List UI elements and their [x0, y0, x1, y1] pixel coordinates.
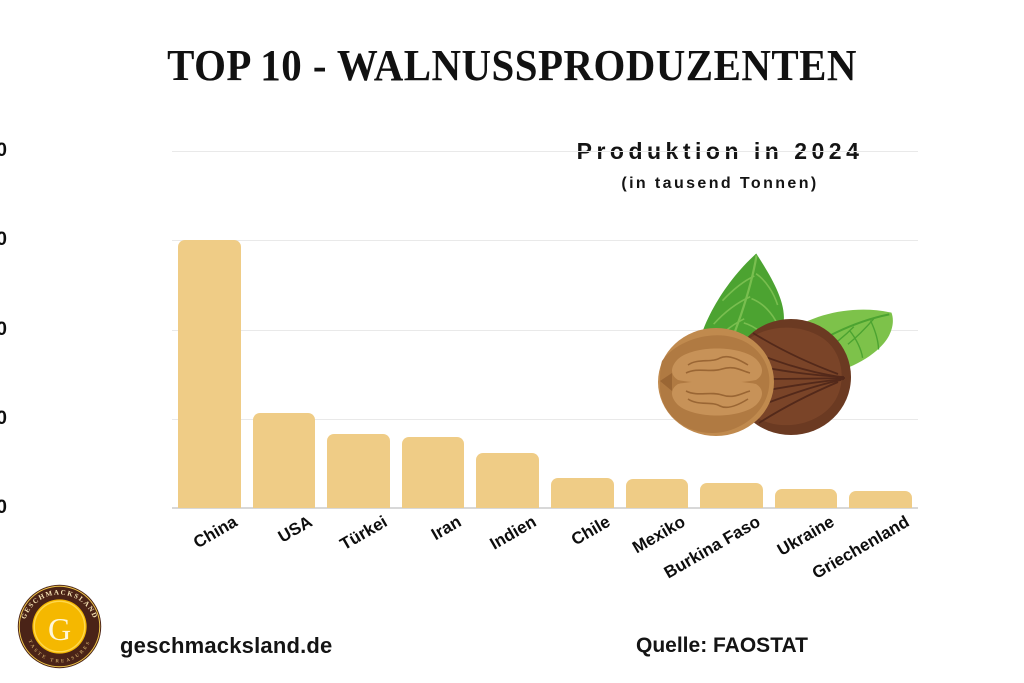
y-axis-tick-label: 500	[0, 408, 7, 430]
x-axis-tick-text: Türkei	[336, 512, 390, 555]
chart-canvas: TOP 10 - WALNUSSPRODUZENTEN Produktion i…	[0, 0, 1024, 683]
x-axis-tick-text: USA	[275, 512, 316, 547]
page-title: TOP 10 - WALNUSSPRODUZENTEN	[36, 40, 988, 91]
site-url: geschmacksland.de	[120, 633, 333, 659]
x-axis-tick-text: Ukraine	[774, 512, 838, 561]
x-axis-tick-text: Iran	[428, 512, 465, 545]
y-axis-tick-label: 2000	[0, 140, 7, 162]
x-axis-ticks: ChinaUSATürkeiIranIndienChileMexikoBurki…	[172, 512, 918, 632]
walnut-illustration	[616, 245, 896, 445]
y-axis-tick-label: 0	[0, 497, 7, 519]
x-axis-tick-text: Indien	[486, 512, 539, 554]
x-axis-tick-text: Mexiko	[629, 512, 689, 558]
x-axis-tick-label: Griechenland	[903, 458, 1007, 530]
y-axis-tick-label: 1500	[0, 229, 7, 251]
bar	[476, 453, 539, 508]
y-axis-tick-label: 1000	[0, 319, 7, 341]
x-axis-tick-text: Chile	[568, 512, 614, 550]
walnut-open-half	[658, 328, 774, 436]
brand-logo: GESCHMACKSLAND TASTE TREASURES G	[11, 578, 108, 675]
x-axis-tick-text: China	[190, 512, 241, 553]
source-note: Quelle: FAOSTAT	[636, 634, 808, 658]
bar	[178, 240, 241, 508]
logo-letter: G	[48, 611, 71, 647]
